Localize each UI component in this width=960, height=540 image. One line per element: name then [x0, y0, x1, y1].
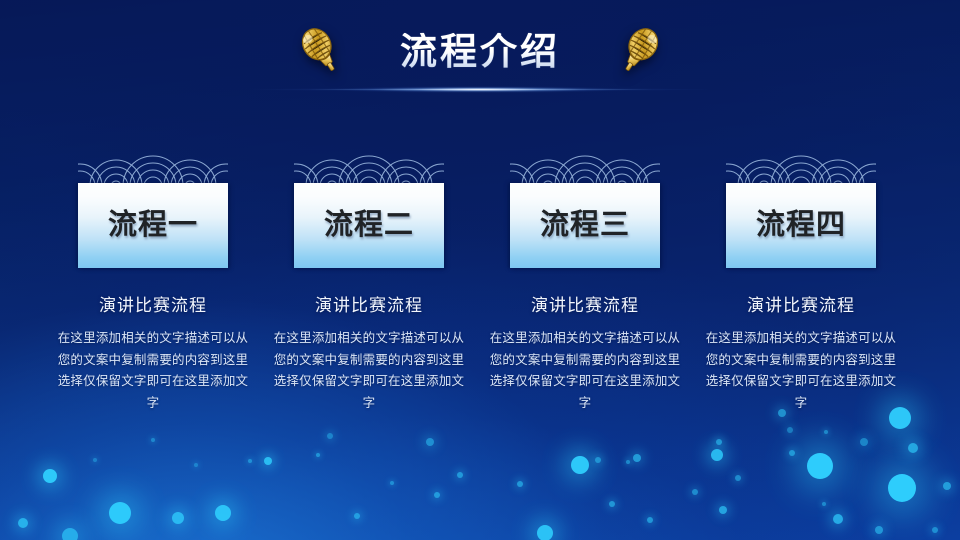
bokeh-dot	[633, 454, 641, 462]
bokeh-dot	[822, 502, 826, 506]
process-card-body: 在这里添加相关的文字描述可以从您的文案中复制需要的内容到这里选择仅保留文字即可在…	[53, 328, 253, 414]
bokeh-dot	[735, 475, 741, 481]
process-card-plate[interactable]: 流程一	[78, 183, 228, 268]
wave-arc-pattern-icon	[294, 150, 444, 186]
bokeh-dot	[93, 458, 97, 462]
bokeh-dot	[943, 482, 951, 490]
slide-header: 流程介绍	[0, 18, 960, 110]
bokeh-dot	[172, 512, 184, 524]
process-card-plate-label: 流程三	[540, 211, 630, 240]
bokeh-dot	[595, 457, 601, 463]
slide-root: 流程介绍	[0, 0, 960, 540]
process-card-body: 在这里添加相关的文字描述可以从您的文案中复制需要的内容到这里选择仅保留文字即可在…	[269, 328, 469, 414]
microphone-icon	[298, 24, 344, 78]
bokeh-dot	[457, 472, 463, 478]
process-card-plate-label: 流程四	[756, 211, 846, 240]
bokeh-dot	[716, 439, 722, 445]
process-card-plate[interactable]: 流程四	[726, 183, 876, 268]
bokeh-dot	[888, 474, 916, 502]
bokeh-dot	[434, 492, 440, 498]
process-card-body: 在这里添加相关的文字描述可以从您的文案中复制需要的内容到这里选择仅保留文字即可在…	[701, 328, 901, 414]
bokeh-dot	[908, 443, 918, 453]
bokeh-dot	[719, 506, 727, 514]
bokeh-dot	[537, 525, 553, 540]
bokeh-dot	[390, 481, 394, 485]
bokeh-dot	[833, 514, 843, 524]
process-card-plate[interactable]: 流程三	[510, 183, 660, 268]
bokeh-dot	[264, 457, 272, 465]
page-title: 流程介绍	[400, 33, 560, 70]
bokeh-dot	[109, 502, 131, 524]
bokeh-dot	[609, 501, 615, 507]
bokeh-dot	[194, 463, 198, 467]
process-card-heading: 演讲比赛流程	[477, 291, 693, 316]
process-card-plate[interactable]: 流程二	[294, 183, 444, 268]
bokeh-dot	[711, 449, 723, 461]
bokeh-dot	[692, 489, 698, 495]
bokeh-dot	[151, 438, 155, 442]
process-cards-row: 流程一 演讲比赛流程 在这里添加相关的文字描述可以从您的文案中复制需要的内容到这…	[0, 150, 960, 430]
process-card-heading: 演讲比赛流程	[45, 291, 261, 316]
wave-arc-pattern-icon	[726, 150, 876, 186]
bokeh-dot	[860, 438, 868, 446]
bokeh-dot	[18, 518, 28, 528]
bokeh-dot	[517, 481, 523, 487]
bokeh-dot	[875, 526, 883, 534]
bokeh-dot	[789, 450, 795, 456]
bokeh-dot	[932, 527, 938, 533]
bokeh-dot	[327, 433, 333, 439]
bokeh-dot	[426, 438, 434, 446]
process-card-body: 在这里添加相关的文字描述可以从您的文案中复制需要的内容到这里选择仅保留文字即可在…	[485, 328, 685, 414]
process-card-plate-label: 流程一	[108, 211, 198, 240]
bokeh-dot	[248, 459, 252, 463]
bokeh-dot	[354, 513, 360, 519]
process-card-heading: 演讲比赛流程	[261, 291, 477, 316]
wave-arc-pattern-icon	[510, 150, 660, 186]
title-row: 流程介绍	[0, 18, 960, 84]
bokeh-dot	[43, 469, 57, 483]
bokeh-dot	[824, 430, 828, 434]
bokeh-dot	[316, 453, 320, 457]
wave-arc-pattern-icon	[78, 150, 228, 186]
bokeh-dot	[62, 528, 78, 540]
bokeh-dot	[807, 453, 833, 479]
process-card-plate-label: 流程二	[324, 211, 414, 240]
bokeh-dot	[647, 517, 653, 523]
process-card-heading: 演讲比赛流程	[693, 291, 909, 316]
title-underline-glow	[330, 86, 630, 93]
bokeh-dot	[215, 505, 231, 521]
microphone-icon	[616, 24, 662, 78]
bokeh-dot	[571, 456, 589, 474]
bokeh-dot	[626, 460, 630, 464]
